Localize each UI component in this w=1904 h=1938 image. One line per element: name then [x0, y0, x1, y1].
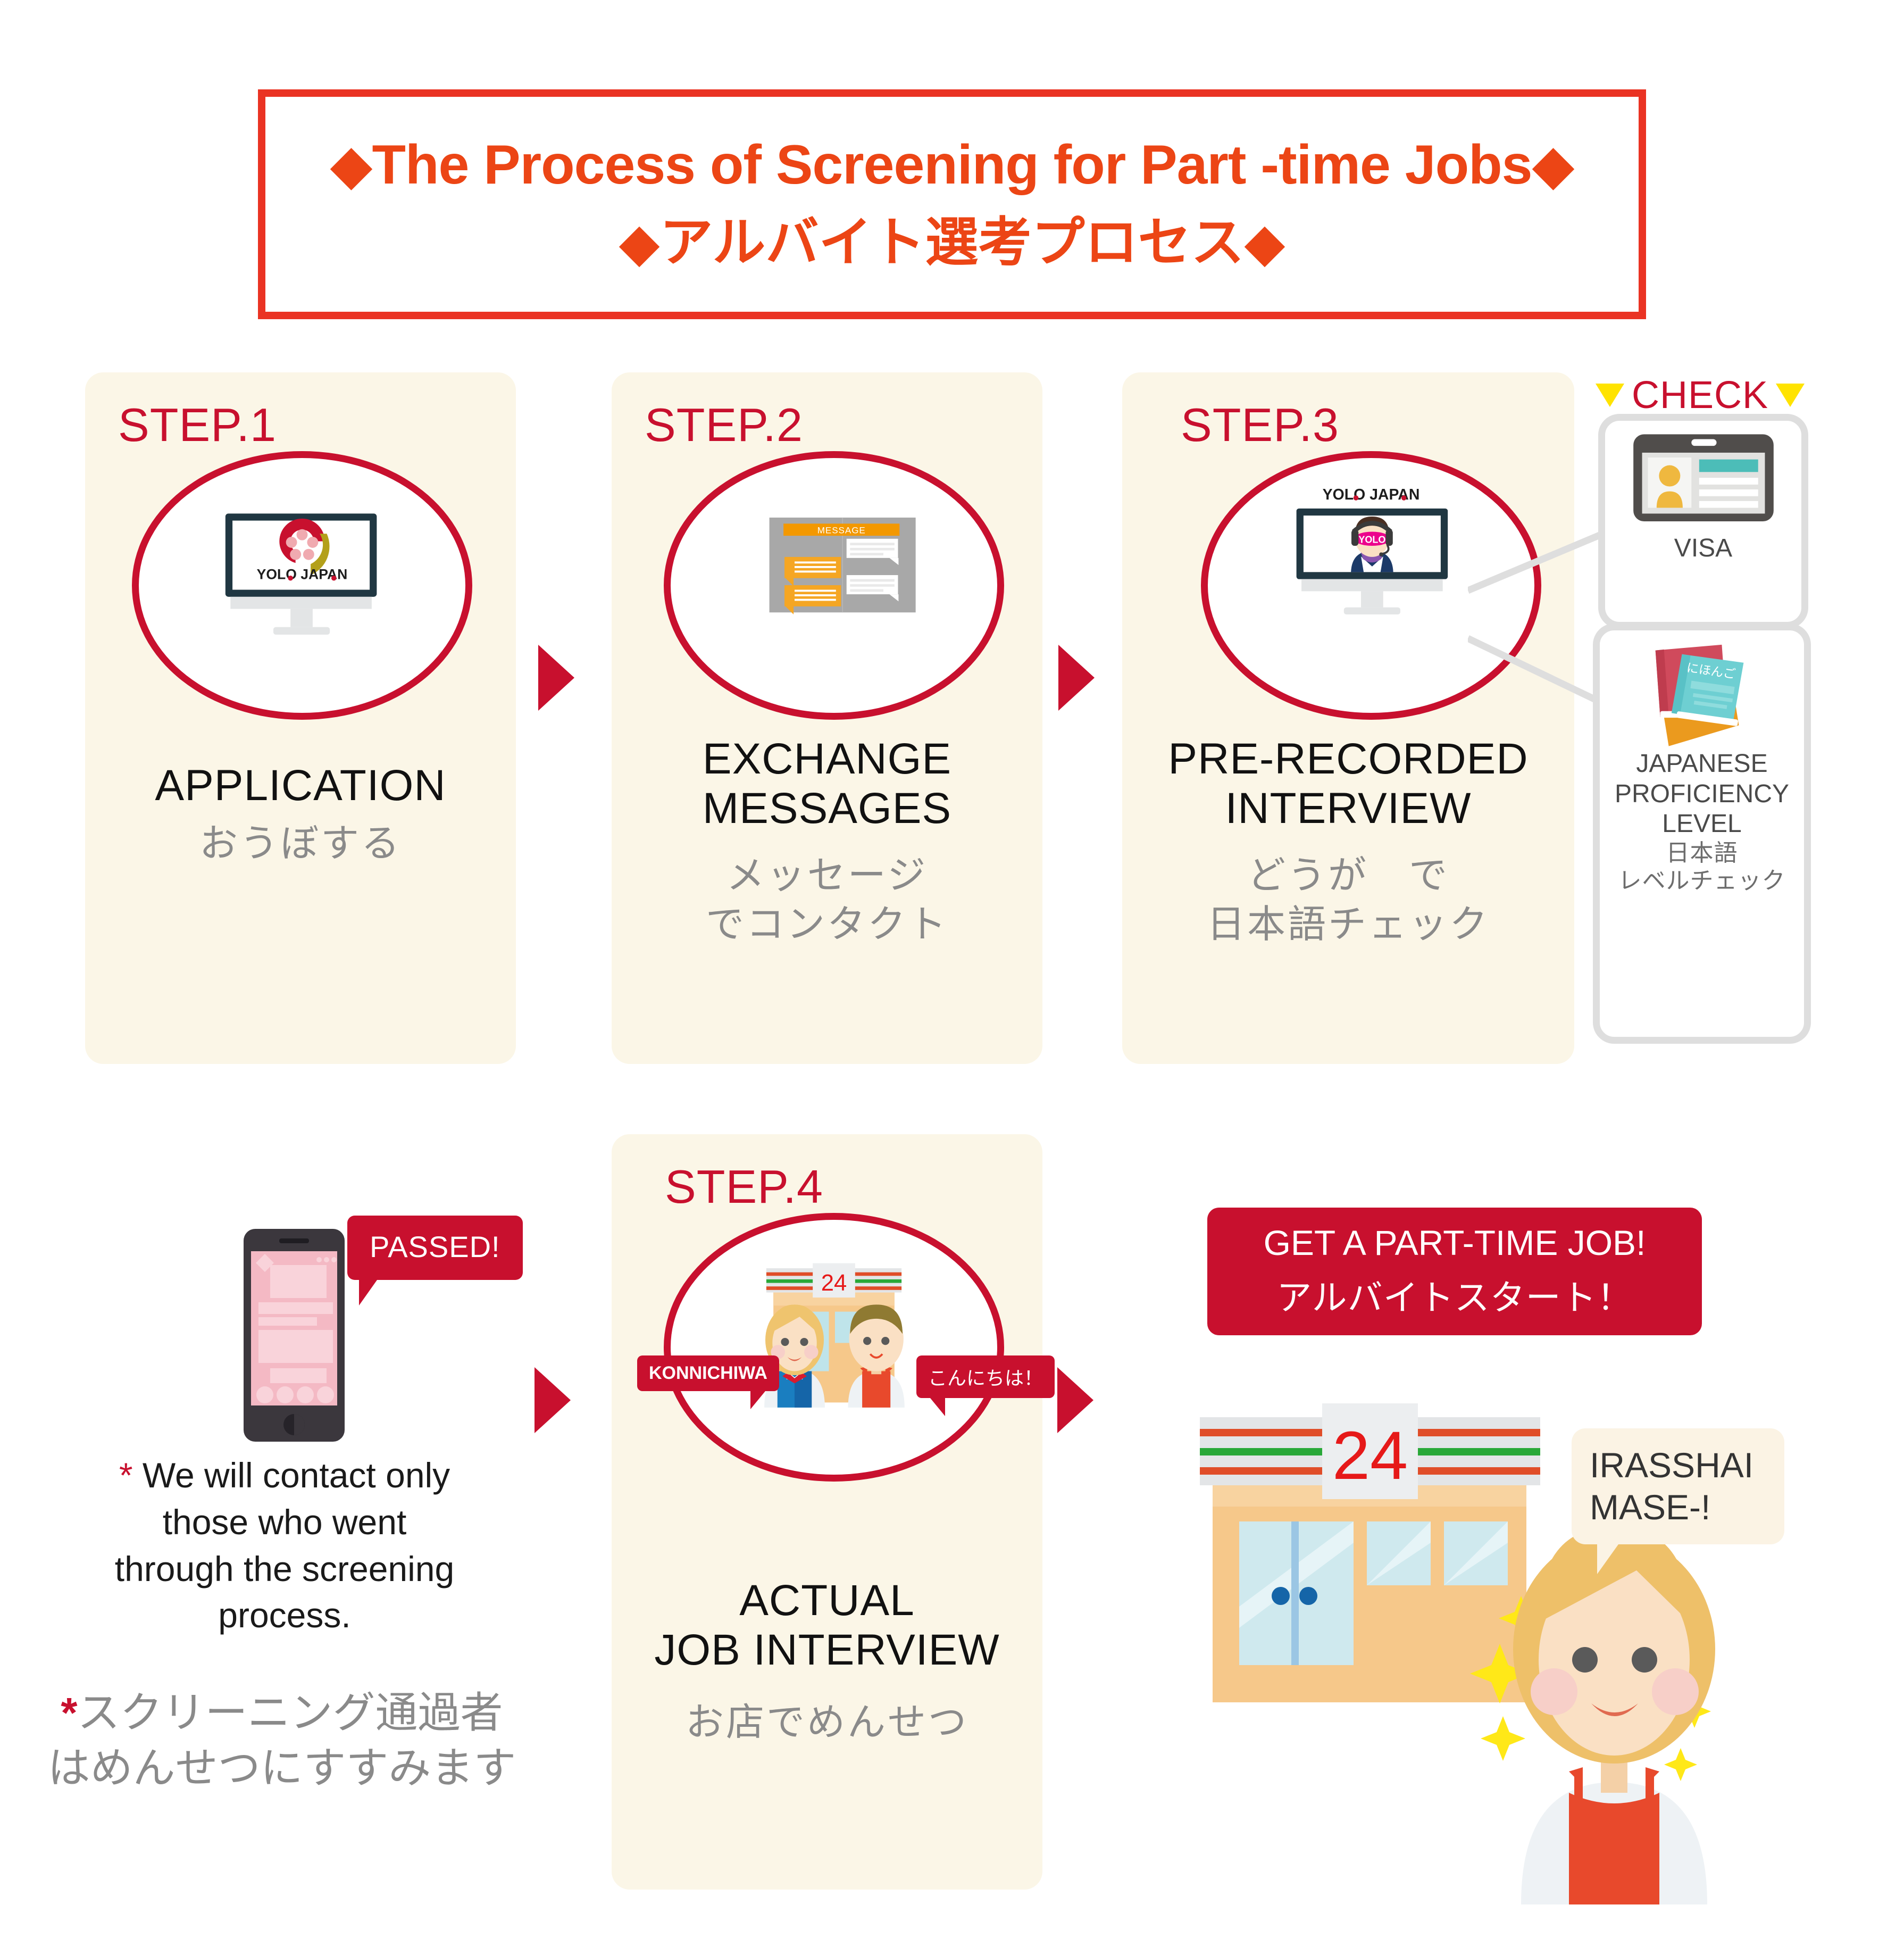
bubble-konnichiwa-japanese: こんにちは！ — [916, 1355, 1055, 1398]
step-1-icon-ring: YOLO JAPAN — [132, 451, 472, 720]
monitor-yolo-japan-logo-icon: YOLO JAPAN — [139, 458, 465, 713]
note-en-line4: process. — [218, 1595, 350, 1635]
page-title-english: ◆The Process of Screening for Part -time… — [330, 130, 1574, 199]
page-title-japanese: ◆アルバイト選考プロセス◆ — [619, 207, 1285, 279]
step-3-title-line2: INTERVIEW — [1225, 784, 1471, 833]
step-2-title-line1: EXCHANGE — [703, 735, 951, 783]
step-card-1: STEP.1 YOLO JAPAN APPLICATION — [85, 372, 516, 1064]
step-4-title: ACTUAL JOB INTERVIEW — [612, 1576, 1042, 1675]
step-4-icon-ring: 24 — [664, 1213, 1004, 1482]
id-card-visa-icon — [1624, 429, 1783, 534]
yolo-japan-wordmark: YOLO JAPAN — [1323, 486, 1420, 503]
note-en-line2: those who went — [163, 1502, 407, 1542]
step-3-title-line1: PRE-RECORDED — [1168, 735, 1528, 783]
step-4-title-line2: JOB INTERVIEW — [654, 1626, 999, 1674]
arrow-phone-to-step4 — [535, 1367, 571, 1433]
check-label: CHECK — [1632, 373, 1768, 417]
note-jp-line2: はめんせつにすすみます — [48, 1744, 516, 1792]
step-3-subtitle: どうが で 日本語チェック — [1122, 851, 1574, 949]
stacked-textbooks-icon: にほんご — [1631, 640, 1773, 749]
step-card-4: STEP.4 24 — [612, 1134, 1042, 1890]
arrow-step4-to-final — [1057, 1367, 1093, 1433]
arrow-step2-to-step3 — [1058, 645, 1095, 711]
step-1-label: STEP.1 — [118, 398, 277, 452]
note-jp-line1: スクリーニング通過者 — [78, 1689, 503, 1736]
final-banner-japanese: アルバイトスタート！ — [1276, 1269, 1632, 1320]
step-2-title: EXCHANGE MESSAGES — [612, 734, 1042, 834]
step-2-subtitle: メッセージ でコンタクト — [612, 851, 1042, 949]
step-3-label: STEP.3 — [1181, 398, 1339, 452]
step-1-title: APPLICATION — [85, 761, 516, 810]
note-asterisk-jp: * — [61, 1689, 77, 1736]
note-en-line3: through the screening — [115, 1549, 454, 1588]
step-3-title: PRE-RECORDED INTERVIEW — [1122, 734, 1574, 834]
visa-caption: VISA — [1674, 534, 1732, 564]
screening-note-japanese: *スクリーニング通過者 はめんせつにすすみます — [43, 1685, 521, 1796]
passed-bubble: PASSED! — [347, 1216, 523, 1280]
person-right — [848, 1304, 905, 1407]
step-2-title-line2: MESSAGES — [703, 784, 951, 833]
step-card-2: STEP.2 MESSAGE EXCHANGE MESSAGES メッセ — [612, 372, 1042, 1064]
smartphone-icon — [229, 1224, 362, 1447]
irasshai-line1: IRASSHAI — [1590, 1445, 1753, 1485]
step-2-subtitle-line1: メッセージ — [726, 854, 928, 897]
step-2-icon-ring: MESSAGE — [664, 451, 1004, 720]
page-title-box: ◆The Process of Screening for Part -time… — [258, 89, 1646, 319]
chat-message-screen-icon: MESSAGE — [671, 458, 997, 713]
jlpt-caption-en-line1: JAPANESE — [1636, 750, 1767, 778]
note-asterisk-en: * — [119, 1455, 133, 1495]
check-panel-visa: VISA — [1598, 414, 1808, 629]
bubble-konnichiwa-romaji: KONNICHIWA — [637, 1355, 779, 1391]
note-en-line1: We will contact only — [143, 1455, 450, 1495]
jlpt-caption-en-line2: PROFICIENCY — [1615, 780, 1789, 808]
step-4-title-line1: ACTUAL — [739, 1576, 915, 1625]
triangle-down-left-icon — [1596, 384, 1624, 407]
store-clerk — [1513, 1527, 1715, 1904]
jlpt-caption-jp-line2: レベルチェック — [1618, 868, 1786, 894]
step-2-subtitle-line2: でコンタクト — [706, 903, 948, 946]
irasshai-line2: MASE-! — [1590, 1487, 1710, 1527]
check-panel-japanese-level: にほんご JAPANESE PROFICIENCY LEVEL 日本語 レベルチ… — [1593, 623, 1811, 1044]
two-people-storefront-icon: 24 — [671, 1220, 997, 1475]
jlpt-caption-en: JAPANESE PROFICIENCY LEVEL — [1615, 749, 1789, 839]
store-sign-24: 24 — [821, 1270, 847, 1296]
triangle-down-right-icon — [1776, 384, 1805, 407]
check-heading: CHECK — [1596, 373, 1805, 417]
arrow-step1-to-step2 — [538, 645, 574, 711]
jlpt-caption-en-line3: LEVEL — [1662, 810, 1741, 838]
step-4-label: STEP.4 — [665, 1160, 823, 1214]
step-4-subtitle: お店でめんせつ — [612, 1698, 1042, 1747]
step-3-subtitle-line2: 日本語チェック — [1207, 903, 1490, 946]
final-banner: GET A PART-TIME JOB! アルバイトスタート！ — [1207, 1208, 1702, 1335]
final-store-sign-24: 24 — [1332, 1418, 1408, 1494]
screening-note-english: * We will contact only those who went th… — [59, 1452, 511, 1639]
irasshaimase-bubble: IRASSHAI MASE-! — [1572, 1428, 1784, 1544]
jlpt-caption-jp: 日本語 レベルチェック — [1618, 839, 1786, 895]
step-3-subtitle-line1: どうが で — [1247, 854, 1449, 897]
jlpt-caption-jp-line1: 日本語 — [1666, 840, 1738, 866]
message-header-text: MESSAGE — [817, 525, 866, 535]
step-2-label: STEP.2 — [645, 398, 803, 452]
step-1-subtitle: おうぼする — [85, 819, 516, 868]
yolo-mask-text: YOLO — [1358, 534, 1385, 545]
final-banner-english: GET A PART-TIME JOB! — [1264, 1222, 1646, 1263]
